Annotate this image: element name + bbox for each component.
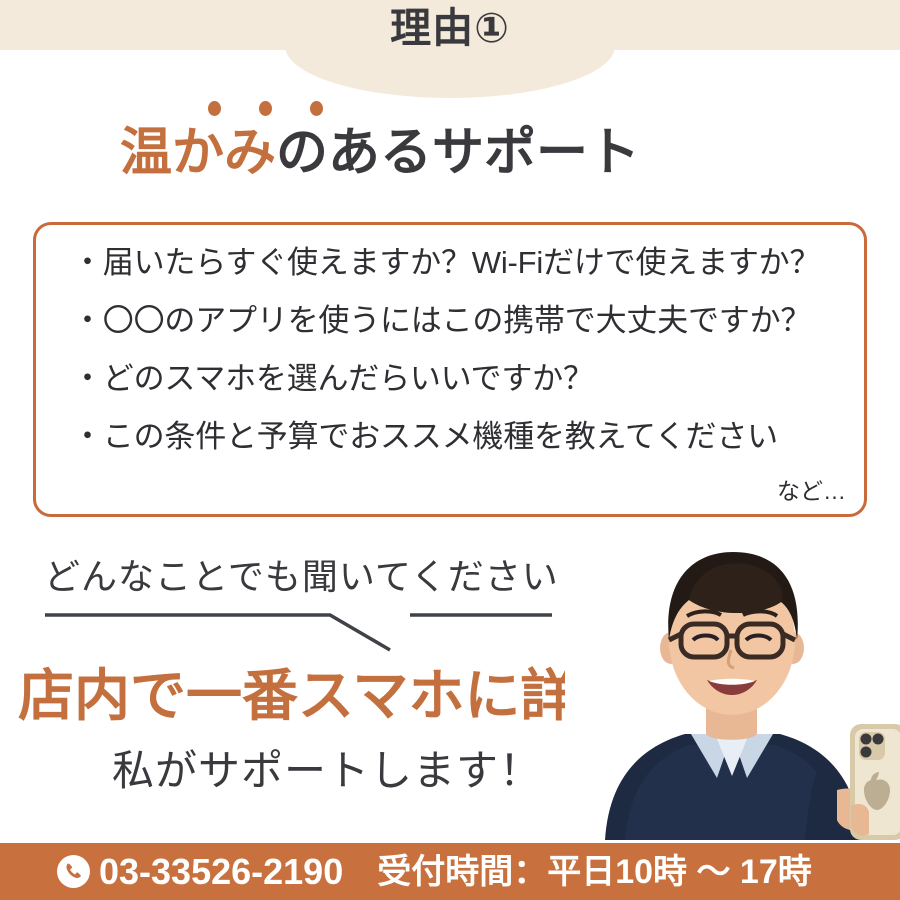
staff-photo — [565, 528, 900, 840]
reason-badge-label: 理由① — [0, 8, 900, 49]
list-item: ・〇〇のアプリを使うにはこの携帯で大丈夫ですか？ — [72, 305, 850, 336]
question-list: ・届いたらすぐ使えますか？Wi-Fiだけで使えますか？ ・〇〇のアプリを使うには… — [72, 247, 850, 452]
advertisement-page: 理由① 温かみのあるサポート ・届いたらすぐ使えますか？Wi-Fiだけで使えます… — [0, 0, 900, 900]
dot-icon — [259, 101, 272, 116]
invitation-text: どんなことでも聞いてください！ — [44, 548, 596, 600]
section-title: 温かみのあるサポート — [0, 124, 760, 184]
contact-footer: 03-33526-2190 受付時間：平日10時 ～ 17時 — [0, 843, 900, 900]
section-title-rest: のあるサポート — [276, 124, 640, 182]
dot-icon — [208, 101, 221, 116]
list-item: ・どのスマホを選んだらいいですか？ — [72, 363, 850, 394]
business-hours: 受付時間：平日10時 ～ 17時 — [377, 855, 812, 889]
phone-number[interactable]: 03-33526-2190 — [99, 854, 343, 890]
staff-photo-illustration — [565, 528, 900, 840]
dot-icon — [310, 101, 323, 116]
list-item: ・この条件と予算でおススメ機種を教えてください — [72, 421, 850, 452]
speech-bubble-line — [40, 595, 600, 655]
headline-secondary: 私がサポートします！ — [112, 750, 542, 792]
decorative-dots — [208, 101, 323, 116]
etc-label: など… — [777, 472, 846, 506]
list-item: ・届いたらすぐ使えますか？Wi-Fiだけで使えますか？ — [72, 247, 850, 278]
question-list-box: ・届いたらすぐ使えますか？Wi-Fiだけで使えますか？ ・〇〇のアプリを使うには… — [33, 222, 867, 517]
phone-icon — [57, 855, 90, 888]
section-title-highlight: 温かみ — [120, 124, 276, 182]
